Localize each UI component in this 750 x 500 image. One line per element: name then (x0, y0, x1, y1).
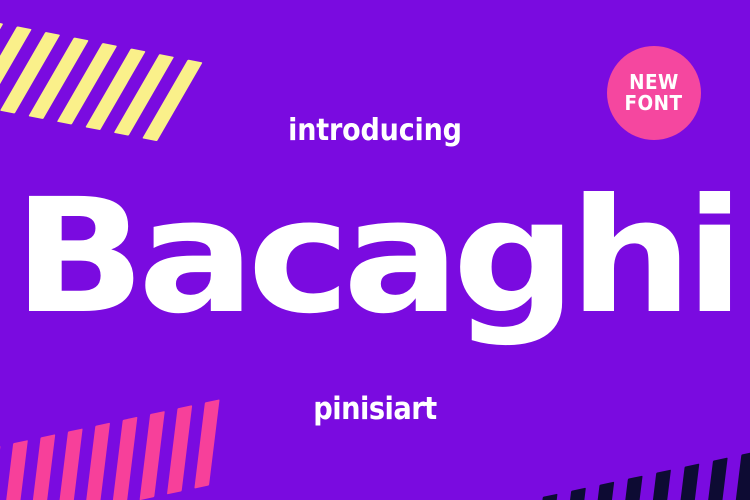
stripe (730, 452, 750, 500)
foundry-byline: pinisiart (45, 391, 705, 427)
stripe (28, 37, 88, 119)
stripe (0, 21, 3, 103)
badge-line-font: FONT (625, 93, 683, 114)
stripe (112, 417, 137, 500)
stripe (30, 434, 55, 500)
font-promo-poster: NEW FONT introducing Bacaghi pinisiart (0, 0, 750, 500)
stripe (588, 482, 614, 500)
stripe (0, 26, 32, 108)
badge-line-new: NEW (629, 72, 679, 93)
stripe (57, 428, 82, 500)
introducing-label: introducing (38, 113, 713, 148)
font-name-wordmark: Bacaghi (0, 178, 750, 336)
stripe (617, 476, 643, 500)
stripe (0, 32, 60, 114)
stripe (560, 488, 586, 500)
stripe (645, 470, 671, 500)
stripe (85, 423, 110, 500)
stripe (702, 458, 728, 500)
navy-stripe-band (528, 446, 750, 500)
stripe (673, 464, 699, 500)
stripe (531, 494, 557, 500)
stripe (3, 440, 28, 500)
